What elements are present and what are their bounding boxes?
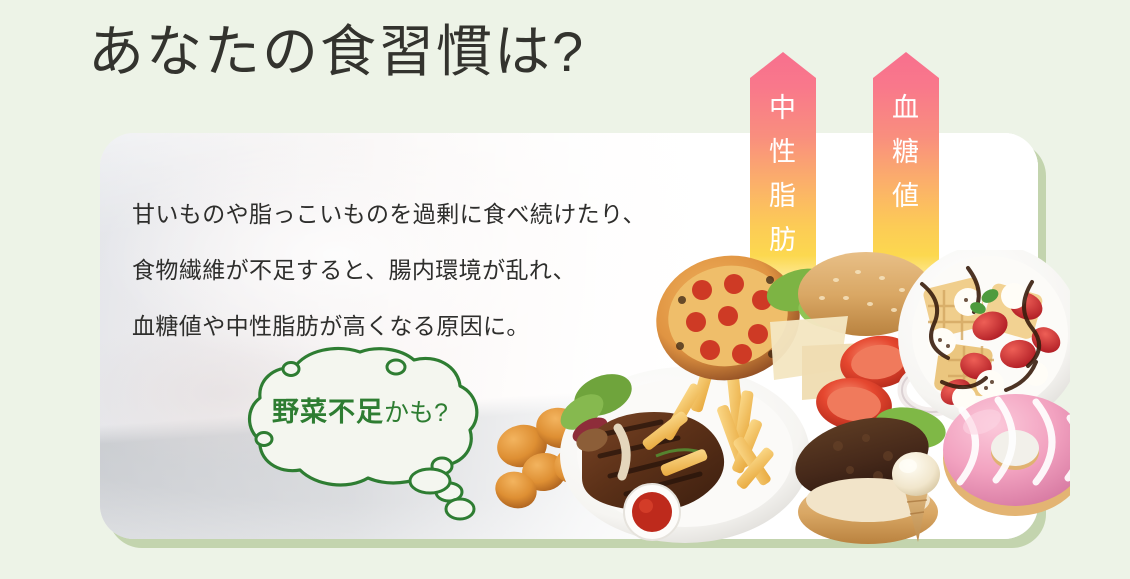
- banner-char: 中: [750, 86, 816, 130]
- body-line-1: 甘いものや脂っこいものを過剰に食べ続けたり、: [132, 186, 646, 242]
- grilled-steak-plate: [554, 354, 810, 543]
- banner-char: 脂: [750, 174, 816, 218]
- thought-bubble-text: 野菜不足かも?: [244, 390, 476, 429]
- thought-bubble-outline: [244, 346, 494, 536]
- bubble-text-strong: 野菜不足: [272, 397, 384, 427]
- banner-char: 糖: [873, 130, 939, 174]
- pink-frosted-donut: [943, 394, 1070, 516]
- banner-char: 血: [873, 86, 939, 130]
- ketchup-dish: [624, 484, 680, 540]
- banner-char: 値: [873, 174, 939, 218]
- food-collage: [470, 250, 1070, 550]
- thought-bubble: 野菜不足かも?: [244, 346, 494, 536]
- page-title: あなたの食習慣は?: [88, 20, 585, 84]
- bubble-text-light: かも?: [384, 399, 448, 427]
- banner-label: 血 糖 値: [873, 86, 939, 218]
- banner-char: 性: [750, 130, 816, 174]
- banner-label: 中 性 脂 肪: [750, 86, 816, 262]
